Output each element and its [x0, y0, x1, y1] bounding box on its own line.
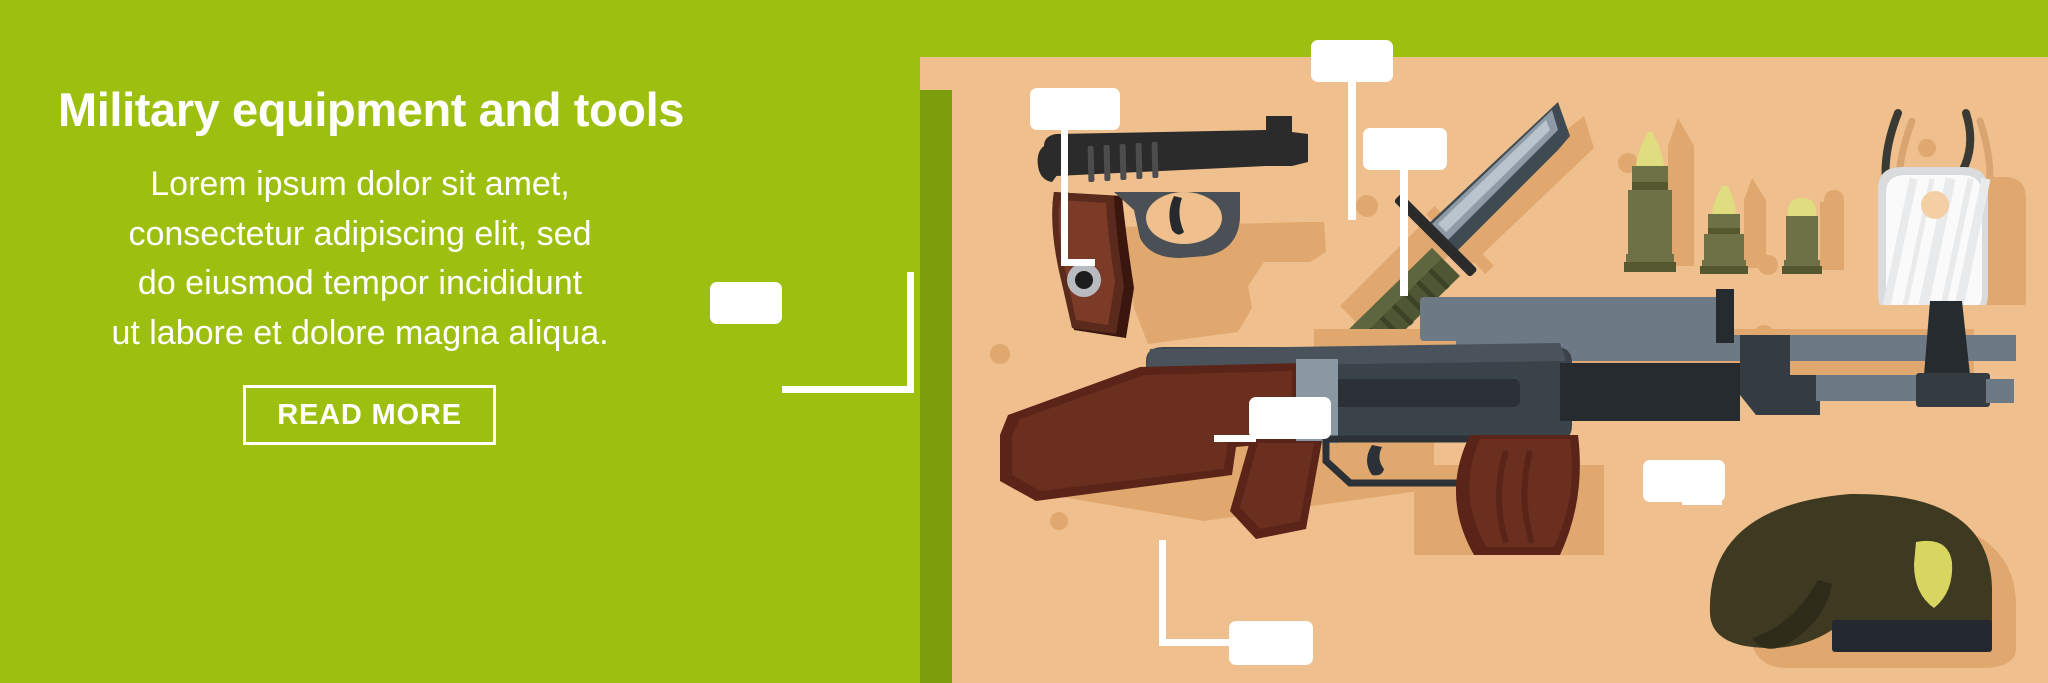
body-line-3: do eiusmod tempor incididunt — [40, 259, 680, 309]
dog-tag-icon — [1840, 95, 2048, 305]
body-copy: Lorem ipsum dolor sit amet, consectetur … — [40, 160, 680, 359]
label-beret[interactable] — [1643, 460, 1725, 502]
label-pistol[interactable] — [710, 282, 782, 324]
bullets-icon — [1618, 90, 1848, 280]
label-connector-pistol-vertical — [907, 272, 914, 392]
label-connector-dogtag — [1400, 166, 1408, 296]
label-bullets[interactable] — [1311, 40, 1393, 82]
label-connector-stock-vertical — [1159, 540, 1166, 644]
body-line-2: consectetur adipiscing elit, sed — [40, 210, 680, 260]
beret-illustration — [1700, 480, 2048, 680]
label-connector-stock-horizontal — [1159, 639, 1235, 646]
page-title: Military equipment and tools — [58, 85, 848, 134]
body-line-1: Lorem ipsum dolor sit amet, — [40, 160, 680, 210]
label-connector-knife-vertical — [1061, 126, 1068, 266]
beret-icon — [1700, 480, 2048, 680]
label-connector-knife-horizontal — [1061, 259, 1095, 266]
bullets-illustration — [1618, 90, 1848, 280]
military-equipment-banner: Military equipment and tools Lorem ipsum… — [0, 0, 2048, 683]
read-more-button[interactable]: READ MORE — [243, 385, 496, 445]
label-dogtag[interactable] — [1363, 128, 1447, 170]
panel-shadow — [920, 90, 952, 683]
dog-tag-illustration — [1840, 95, 2048, 305]
left-content-panel: Military equipment and tools Lorem ipsum… — [0, 0, 920, 683]
label-rifle[interactable] — [1249, 397, 1331, 439]
label-stock[interactable] — [1229, 621, 1313, 665]
body-line-4: ut labore et dolore magna aliqua. — [40, 309, 680, 359]
label-connector-pistol — [782, 386, 914, 393]
label-knife[interactable] — [1030, 88, 1120, 130]
label-connector-bullets — [1348, 78, 1356, 220]
